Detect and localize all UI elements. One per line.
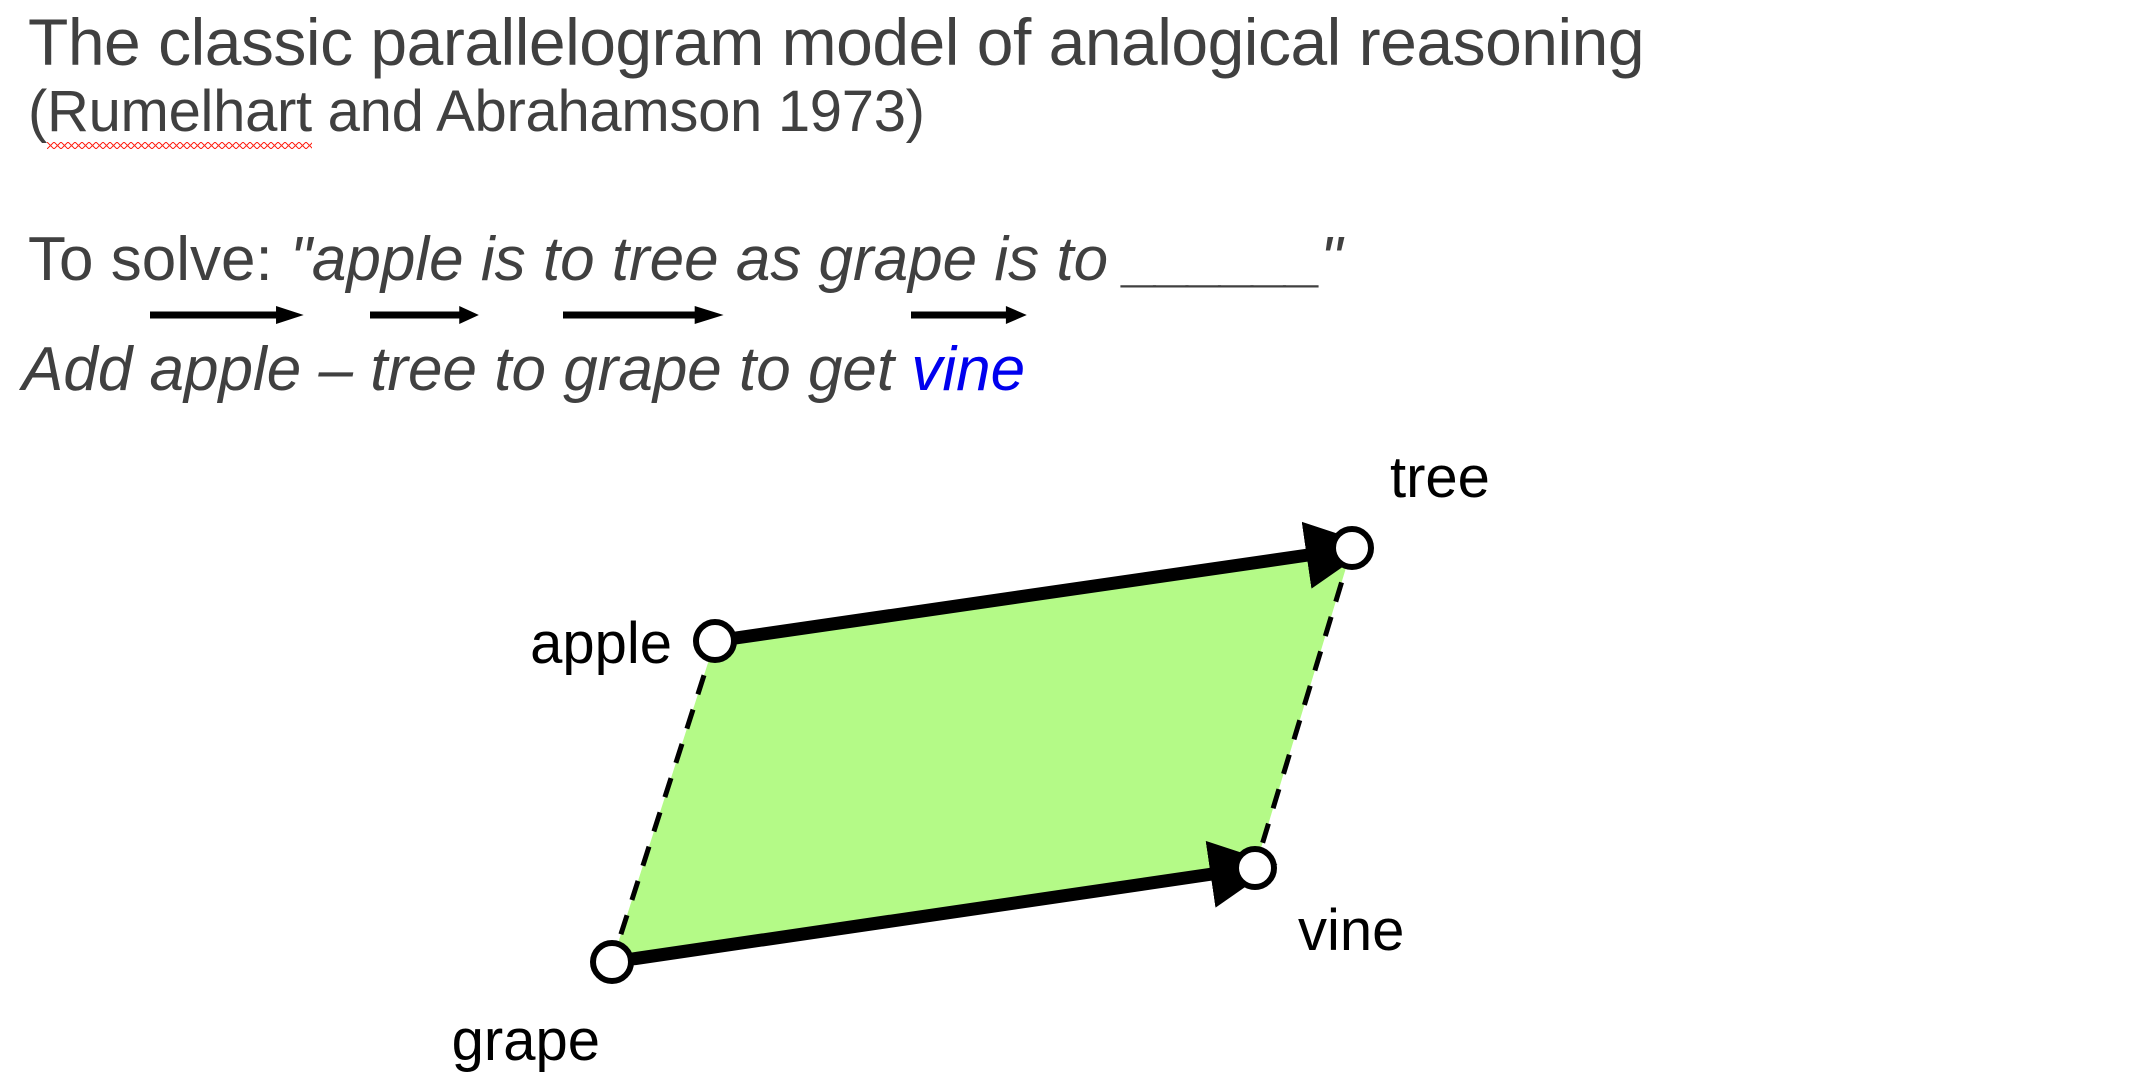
vertex-label-apple: apple [530,611,672,676]
vector-word-grape: grape [563,334,722,405]
minus-operator: – [301,335,370,404]
vector-arithmetic-line: Add apple – tree to grape to get vine [22,334,1025,405]
vector-arrow-icon [370,304,479,326]
citation-open-paren: ( [28,79,47,144]
vector-word-vine-answer: vine [911,334,1025,405]
vector-term-tree: tree [370,334,477,405]
vertex-label-vine: vine [1298,898,1404,963]
slide-title-line-1: The classic parallelogram model of analo… [28,4,1644,80]
solve-prompt-line: To solve: "apple is to tree as grape is … [28,224,1342,295]
vector-term-apple: apple [150,334,302,405]
to-get-connector: to get [722,335,912,404]
slide-citation-line: (Rumelhart and Abrahamson 1973) [28,78,925,145]
parallelogram-fill-region [612,548,1352,962]
add-label: Add [22,335,150,404]
vertex-label-tree: tree [1390,445,1490,510]
vector-word-tree: tree [370,334,477,405]
analogy-quote-close: " [1320,225,1342,294]
vertex-dot-tree [1333,529,1371,567]
analogy-blank: ______ [1125,225,1320,294]
vector-arrow-icon [563,304,724,326]
vector-arrow-icon [911,304,1027,326]
misspelled-word-rumelhart: Rumelhart [47,78,312,145]
citation-rest: and Abrahamson 1973) [312,79,925,144]
vector-term-grape: grape [563,334,722,405]
to-connector-1: to [477,335,563,404]
vertex-dot-apple [696,622,734,660]
vector-word-apple: apple [150,334,302,405]
vector-term-vine: vine [911,334,1025,405]
solve-label: To solve: [28,225,290,294]
vertex-dot-grape [593,943,631,981]
vector-arrow-icon [150,304,304,326]
analogy-prompt: "apple is to tree as grape is to [290,225,1125,294]
parallelogram-diagram: apple tree grape vine [0,420,2154,1078]
vertex-label-grape: grape [452,1008,600,1073]
vertex-dot-vine [1236,849,1274,887]
